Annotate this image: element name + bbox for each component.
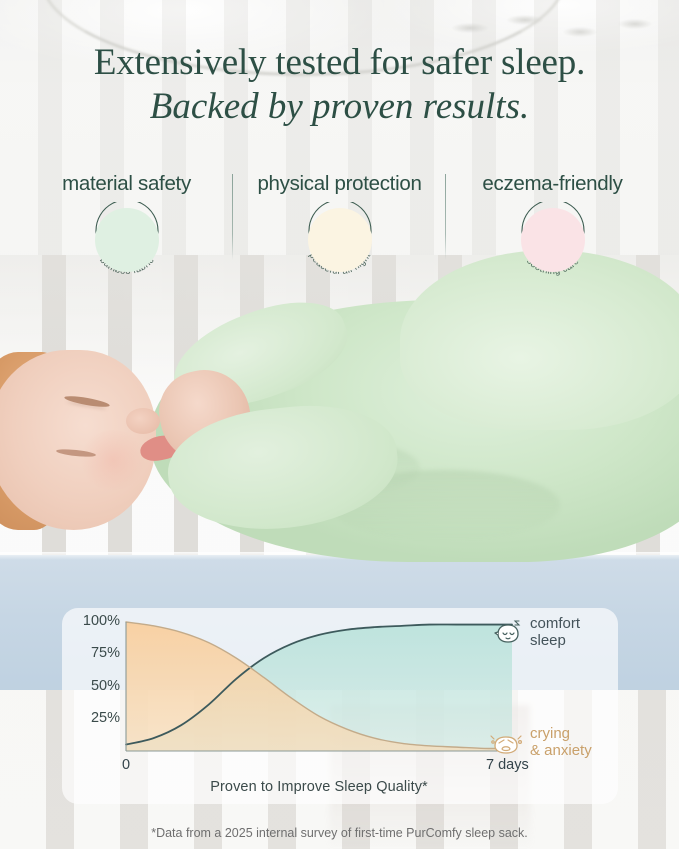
sleep-quality-chart: 100% 75% 50% 25% 0 7 days — [62, 608, 618, 818]
feature-badges: material safety — [0, 172, 679, 290]
badge-label: eczema-friendly — [482, 172, 622, 196]
badge-medal: bamboo fabric — [84, 202, 170, 288]
badge-medal: peaceful all night — [297, 202, 383, 288]
legend-label-comfort: comfort sleep — [530, 616, 580, 650]
badge-label: material safety — [62, 172, 191, 196]
legend-item-comfort-sleep: comfort sleep — [494, 616, 580, 650]
chart-caption: Proven to Improve Sleep Quality* — [126, 779, 512, 795]
chart-series-areas — [126, 622, 512, 751]
sleeping-baby-face-icon — [494, 620, 524, 646]
headline-line-1: Extensively tested for safer sleep. — [0, 44, 679, 82]
badge-circle-fill — [95, 208, 159, 272]
baby-nose — [126, 408, 160, 434]
badge-label: physical protection — [257, 172, 421, 196]
headline-line-2: Backed by proven results. — [0, 88, 679, 126]
badge-material-safety: material safety — [20, 172, 233, 288]
promo-image-root: Extensively tested for safer sleep. Back… — [0, 0, 679, 849]
footnote: *Data from a 2025 internal survey of fir… — [0, 826, 679, 840]
badge-medal: soothing care — [510, 202, 596, 288]
crying-baby-face-icon — [490, 729, 524, 757]
badge-eczema-friendly: eczema-friendly — [446, 172, 659, 288]
badge-circle-fill — [308, 208, 372, 272]
headline: Extensively tested for safer sleep. Back… — [0, 44, 679, 125]
legend-label-crying: crying & anxiety — [530, 726, 592, 760]
legend-item-crying-anxiety: crying & anxiety — [490, 726, 592, 760]
x-tick-label-start: 0 — [122, 757, 130, 773]
sleeping-baby — [0, 290, 679, 590]
baby-cheek — [78, 430, 148, 490]
badge-physical-protection: physical protection — [233, 172, 446, 288]
badge-circle-fill — [521, 208, 585, 272]
